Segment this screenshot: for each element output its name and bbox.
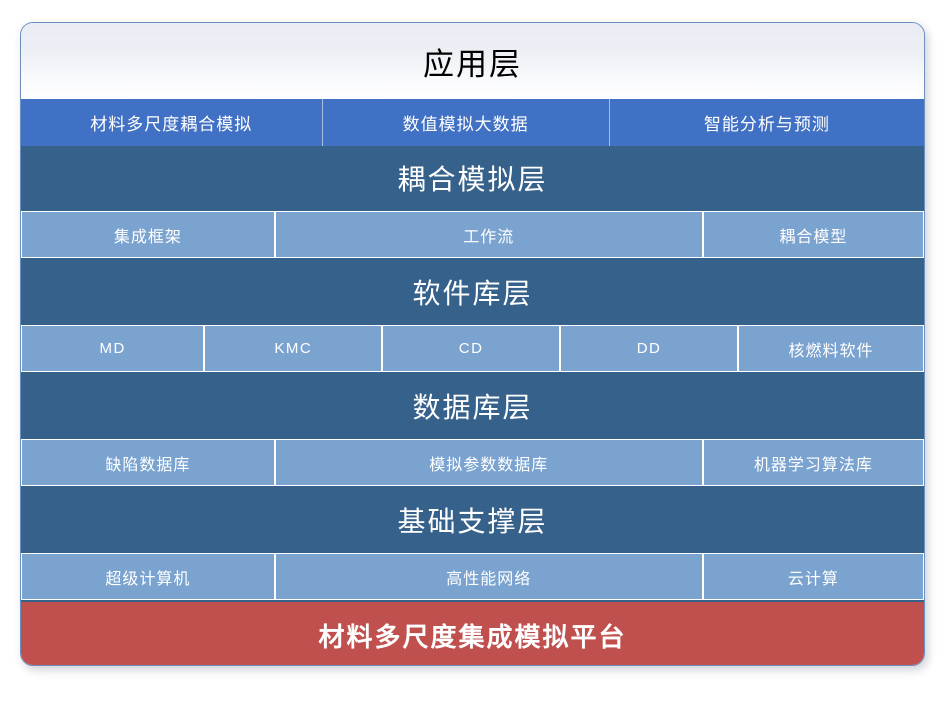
layer-title: 数据库层 (412, 386, 532, 426)
layer-title: 软件库层 (412, 272, 532, 312)
layer-header-1: 耦合模拟层 (21, 146, 924, 209)
layer-items-row-4: 超级计算机高性能网络云计算 (21, 551, 924, 602)
layer-header-3: 数据库层 (21, 374, 924, 437)
application-item-2[interactable]: 数值模拟大数据 (323, 99, 610, 146)
layer-2-item-2[interactable]: KMC (204, 325, 382, 372)
layer-4-item-2[interactable]: 高性能网络 (275, 553, 703, 600)
application-layer-items-row: 材料多尺度耦合模拟数值模拟大数据智能分析与预测 (21, 99, 924, 146)
layers-container: 耦合模拟层集成框架工作流耦合模型软件库层MDKMCCDDD核燃料软件数据库层缺陷… (21, 146, 924, 602)
layer-1-item-3[interactable]: 耦合模型 (703, 211, 924, 258)
application-item-1[interactable]: 材料多尺度耦合模拟 (21, 99, 323, 146)
layer-items-row-3: 缺陷数据库模拟参数数据库机器学习算法库 (21, 437, 924, 488)
layer-title: 耦合模拟层 (397, 158, 547, 198)
layer-2-item-1[interactable]: MD (21, 325, 204, 372)
application-layer-title-band: 应用层 (21, 23, 924, 99)
layer-1-item-1[interactable]: 集成框架 (21, 211, 275, 258)
layer-4-item-3[interactable]: 云计算 (703, 553, 924, 600)
layer-2-item-4[interactable]: DD (560, 325, 738, 372)
layer-3-item-1[interactable]: 缺陷数据库 (21, 439, 275, 486)
architecture-diagram-card: 应用层 材料多尺度耦合模拟数值模拟大数据智能分析与预测 耦合模拟层集成框架工作流… (20, 22, 925, 666)
layer-title: 基础支撑层 (397, 500, 547, 540)
layer-4-item-1[interactable]: 超级计算机 (21, 553, 275, 600)
layer-items-row-1: 集成框架工作流耦合模型 (21, 209, 924, 260)
platform-bar: 材料多尺度集成模拟平台 (21, 602, 924, 666)
layer-2-item-5[interactable]: 核燃料软件 (738, 325, 924, 372)
layer-2-item-3[interactable]: CD (382, 325, 560, 372)
application-item-3[interactable]: 智能分析与预测 (610, 99, 924, 146)
layer-3-item-3[interactable]: 机器学习算法库 (703, 439, 924, 486)
layer-items-row-2: MDKMCCDDD核燃料软件 (21, 323, 924, 374)
page-title: 应用层 (423, 39, 522, 84)
layer-header-4: 基础支撑层 (21, 488, 924, 551)
layer-1-item-2[interactable]: 工作流 (275, 211, 703, 258)
platform-label: 材料多尺度集成模拟平台 (318, 617, 626, 654)
layer-3-item-2[interactable]: 模拟参数数据库 (275, 439, 703, 486)
layer-header-2: 软件库层 (21, 260, 924, 323)
